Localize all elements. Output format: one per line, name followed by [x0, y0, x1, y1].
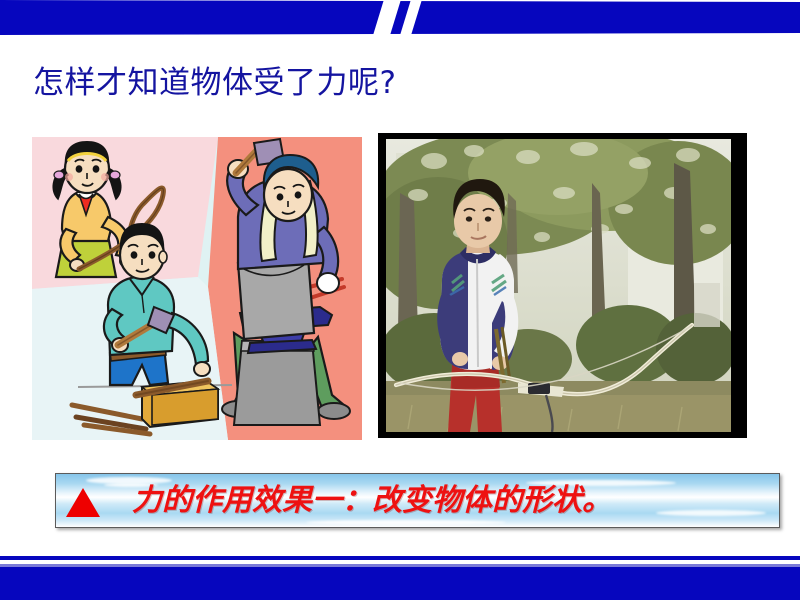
bottom-blue-band [0, 567, 800, 600]
top-band-bar [0, 0, 800, 36]
bow-archery-photo [378, 133, 747, 438]
photo-svg [378, 133, 747, 438]
bottom-rule-dark [0, 556, 800, 560]
top-blue-band [0, 0, 800, 38]
page-title: 怎样才知道物体受了力呢? [33, 63, 733, 103]
slide-canvas: 怎样才知道物体受了力呢? [0, 0, 800, 600]
effect-callout-banner: 力的作用效果一：改变物体的形状。 [55, 473, 780, 528]
cartoon-svg [32, 137, 362, 440]
banner-content: 力的作用效果一：改变物体的形状。 [56, 474, 779, 527]
cartoon-illustration [32, 137, 362, 440]
triangle-bullet-icon [66, 488, 100, 517]
banner-text: 力的作用效果一：改变物体的形状。 [132, 484, 612, 518]
